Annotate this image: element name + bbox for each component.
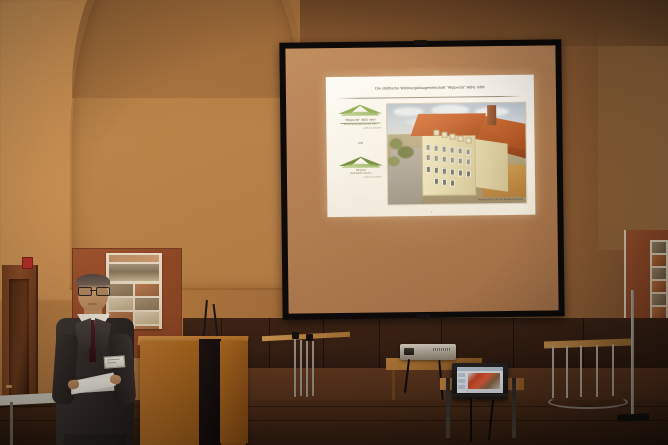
poster-photo-cell — [652, 307, 666, 318]
laptop-screen — [457, 367, 503, 393]
logo-secondary-claim: ...weil wir wohnen! — [337, 175, 385, 179]
door[interactable] — [2, 265, 38, 415]
photo-tower — [487, 105, 496, 125]
poster-photo-cell — [652, 281, 666, 292]
poster-photo-cell — [652, 242, 666, 253]
house-roof-icon — [338, 103, 382, 117]
apse-edge — [70, 0, 306, 290]
slide-page-number: 1 — [327, 210, 535, 216]
screen-roller-knob — [413, 40, 427, 45]
house-roof-icon — [339, 155, 383, 169]
laptop-slide-image — [468, 373, 500, 389]
slide-title: Die städtische Wohnungsbaugesellschaft "… — [326, 85, 534, 92]
laptop[interactable] — [452, 363, 508, 399]
slide-title-rule — [337, 96, 523, 99]
poster-photo-cell — [652, 268, 666, 279]
slide-building-photo: Planstraße 6, 99706 Sondershausen — [386, 102, 527, 206]
door-handle[interactable] — [6, 385, 12, 388]
projector-vent — [433, 348, 451, 351]
ceiling-shadow — [300, 0, 668, 46]
lectern-side — [220, 341, 248, 443]
table-caster-foot — [548, 395, 628, 409]
exit-sign-icon — [22, 257, 33, 269]
screen-bottom-bar — [417, 314, 431, 319]
logo-primary-claim: ...weil wir wohnen! — [336, 126, 384, 130]
name-badge — [104, 355, 126, 368]
presenter — [48, 276, 142, 445]
photo-building-wing — [472, 139, 509, 192]
projection-screen: Die städtische Wohnungsbaugesellschaft "… — [279, 39, 564, 319]
lectern-edge — [199, 339, 221, 445]
logo-secondary: Wippertal Wohndienst Service ...weil wir… — [337, 155, 385, 179]
logo-primary-name: "Wippertal" WBG mbH — [336, 117, 384, 122]
logo-primary: "Wippertal" WBG mbH Wohnungsbaugesellsch… — [336, 103, 384, 130]
projector — [400, 344, 456, 360]
screen-surface: Die städtische Wohnungsbaugesellschaft "… — [285, 45, 558, 313]
presentation-room-photo: Die städtische Wohnungsbaugesellschaft "… — [0, 0, 668, 445]
equipment-pole — [631, 290, 634, 418]
slide-logo-column: "Wippertal" WBG mbH Wohnungsbaugesellsch… — [334, 103, 387, 205]
door-panel — [9, 279, 29, 397]
laptop-keyboard[interactable] — [452, 394, 508, 399]
poster-photo-cell — [652, 294, 666, 305]
photo-roof-main — [410, 113, 486, 136]
mouth — [88, 303, 97, 305]
speech-notes-sheet — [74, 378, 115, 394]
slide-connector-text: und — [335, 140, 387, 145]
logo-secondary-subline: Wohndienst Service — [337, 171, 385, 175]
poster-header — [109, 255, 159, 262]
trousers — [64, 434, 126, 445]
projector-lens-icon — [404, 348, 414, 355]
projected-slide: Die städtische Wohnungsbaugesellschaft "… — [326, 75, 536, 218]
glasses-icon — [78, 287, 108, 294]
mic-stand-group — [262, 330, 354, 410]
poster-photo-cell — [652, 255, 666, 266]
photo-caption: Planstraße 6, 99706 Sondershausen — [478, 198, 524, 202]
